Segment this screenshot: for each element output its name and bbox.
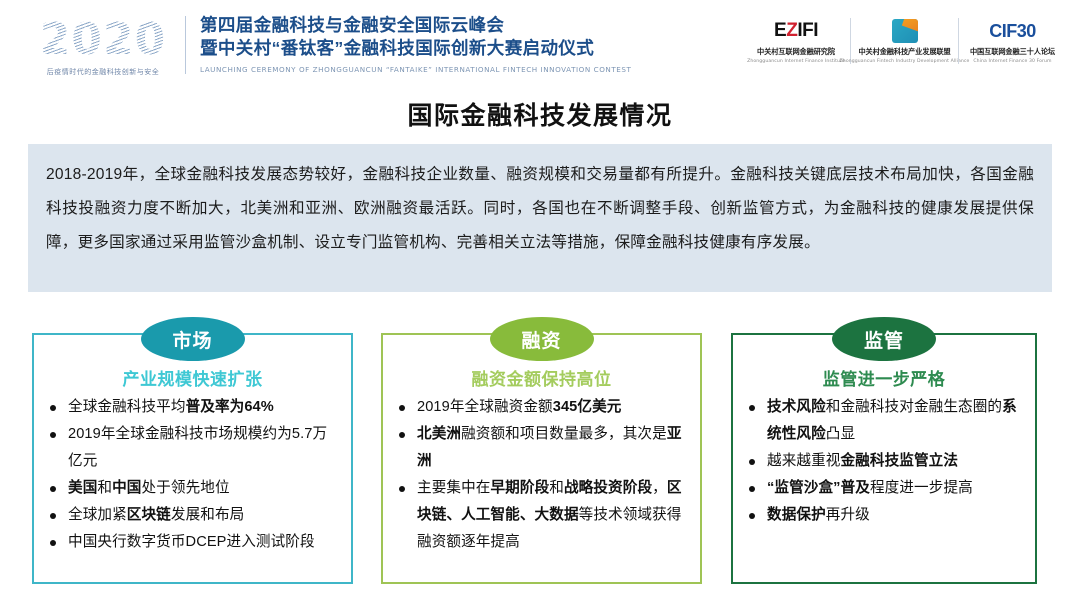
gnc-logo-icon: [892, 18, 918, 44]
card-regulation-heading: 监管进一步严格: [741, 365, 1027, 390]
slide-header: 2020 后疫情时代的金融科技创新与安全 第四届金融科技与金融安全国际云峰会 暨…: [0, 0, 1080, 88]
list-item: 越来越重视金融科技监管立法: [745, 448, 1025, 475]
list-item: 数据保护再升级: [745, 502, 1025, 529]
header-title-block: 第四届金融科技与金融安全国际云峰会 暨中关村“番钛客”金融科技国际创新大赛启动仪…: [200, 14, 720, 74]
partner-logo-ezifi-cn: 中关村互联网金融研究院: [757, 47, 835, 57]
partner-logo-gnc: 中关村金融科技产业发展联盟 Zhongguancun Fintech Indus…: [850, 18, 958, 64]
partner-logos: EZIFI 中关村互联网金融研究院 Zhongguancun Internet …: [742, 18, 1066, 78]
card-regulation-badge: 监管: [832, 317, 936, 361]
cif30-logo-icon: CIF30: [989, 18, 1036, 44]
partner-logo-ezifi: EZIFI 中关村互联网金融研究院 Zhongguancun Internet …: [742, 18, 850, 64]
list-item: 美国和中国处于领先地位: [46, 475, 341, 502]
card-financing-badge: 融资: [490, 317, 594, 361]
card-market-heading: 产业规模快速扩张: [42, 365, 343, 390]
summit-title-line-2: 暨中关村“番钛客”金融科技国际创新大赛启动仪式: [200, 37, 720, 60]
card-market: 市场 产业规模快速扩张 全球金融科技平均普及率为64%2019年全球金融科技市场…: [32, 333, 353, 584]
card-financing-list: 2019年全球融资金额345亿美元北美洲融资额和项目数量最多，其次是亚洲主要集中…: [391, 394, 692, 556]
page-title: 国际金融科技发展情况: [0, 96, 1080, 132]
card-regulation-list: 技术风险和金融科技对金融生态圈的系统性风险凸显越来越重视金融科技监管立法“监管沙…: [741, 394, 1027, 529]
list-item: 全球加紧区块链发展和布局: [46, 502, 341, 529]
card-market-badge: 市场: [141, 317, 245, 361]
list-item: 全球金融科技平均普及率为64%: [46, 394, 341, 421]
partner-logo-cif30-en: China Internet Finance 30 Forum: [973, 59, 1051, 64]
partner-logo-cif30-cn: 中国互联网金融三十人论坛: [970, 47, 1055, 57]
card-financing: 融资 融资金额保持高位 2019年全球融资金额345亿美元北美洲融资额和项目数量…: [381, 333, 702, 584]
summary-cards: 市场 产业规模快速扩张 全球金融科技平均普及率为64%2019年全球金融科技市场…: [0, 318, 1080, 598]
header-divider: [185, 16, 186, 74]
intro-panel: 2018-2019年，全球金融科技发展态势较好，金融科技企业数量、融资规模和交易…: [28, 144, 1052, 292]
list-item: 2019年全球金融科技市场规模约为5.7万亿元: [46, 421, 341, 475]
partner-logo-cif30: CIF30 中国互联网金融三十人论坛 China Internet Financ…: [958, 18, 1066, 64]
event-year-number: 2020: [40, 18, 166, 62]
card-regulation: 监管 监管进一步严格 技术风险和金融科技对金融生态圈的系统性风险凸显越来越重视金…: [731, 333, 1037, 584]
list-item: 技术风险和金融科技对金融生态圈的系统性风险凸显: [745, 394, 1025, 448]
summit-title-english: LAUNCHING CEREMONY OF ZHONGGUANCUN “FANT…: [200, 65, 720, 74]
list-item: “监管沙盒”普及程度进一步提高: [745, 475, 1025, 502]
event-year-tagline: 后疫情时代的金融科技创新与安全: [47, 67, 160, 77]
slide-root: 2020 后疫情时代的金融科技创新与安全 第四届金融科技与金融安全国际云峰会 暨…: [0, 0, 1080, 608]
summit-title-line-1: 第四届金融科技与金融安全国际云峰会: [200, 14, 720, 37]
list-item: 主要集中在早期阶段和战略投资阶段，区块链、人工智能、大数据等技术领域获得融资额逐…: [395, 475, 690, 556]
partner-logo-gnc-cn: 中关村金融科技产业发展联盟: [858, 47, 950, 57]
partner-logo-ezifi-en: Zhongguancun Internet Finance Institute: [747, 59, 845, 64]
list-item: 中国央行数字货币DCEP进入测试阶段: [46, 529, 341, 556]
event-year-logo: 2020 后疫情时代的金融科技创新与安全: [28, 14, 178, 80]
intro-paragraph: 2018-2019年，全球金融科技发展态势较好，金融科技企业数量、融资规模和交易…: [46, 158, 1034, 260]
card-market-list: 全球金融科技平均普及率为64%2019年全球金融科技市场规模约为5.7万亿元美国…: [42, 394, 343, 556]
ezifi-logo-icon: EZIFI: [774, 18, 818, 44]
partner-logo-gnc-en: Zhongguancun Fintech Industry Developmen…: [840, 59, 970, 64]
list-item: 2019年全球融资金额345亿美元: [395, 394, 690, 421]
card-financing-heading: 融资金额保持高位: [391, 365, 692, 390]
list-item: 北美洲融资额和项目数量最多，其次是亚洲: [395, 421, 690, 475]
